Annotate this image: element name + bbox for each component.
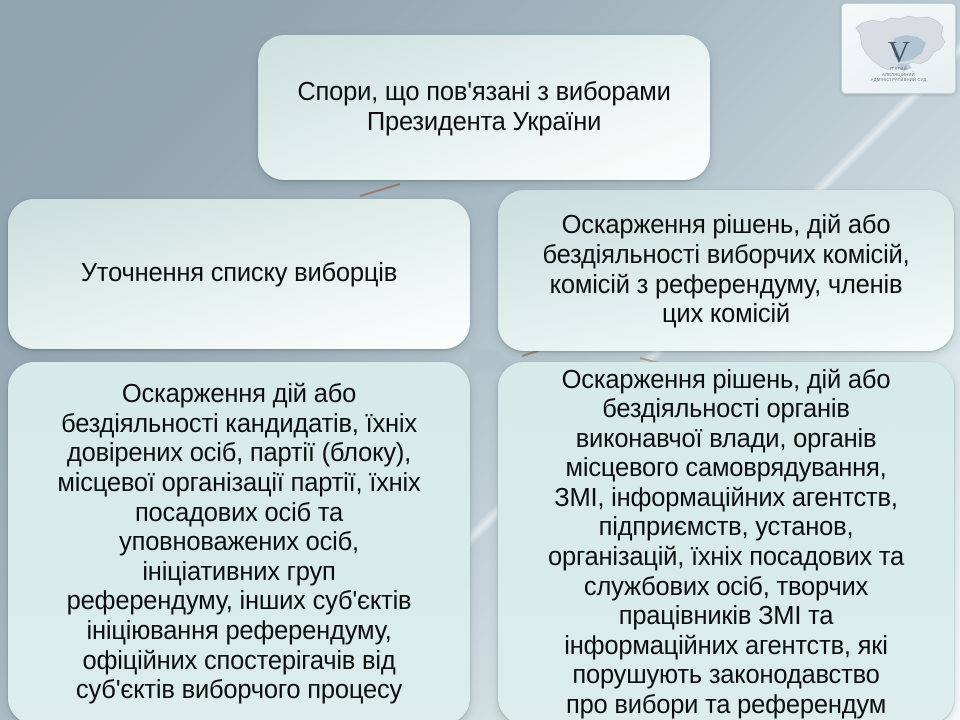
commissions-node-label: Оскарження рішень, дій або бездіяльності…	[498, 211, 954, 329]
slide-canvas: Спори, що пов'язані з виборами Президент…	[0, 0, 960, 720]
commissions-node[interactable]: Оскарження рішень, дій або бездіяльності…	[498, 190, 954, 351]
root-node[interactable]: Спори, що пов'язані з виборами Президент…	[258, 35, 710, 180]
svg-text:V: V	[888, 34, 911, 69]
voter-list-node-label: Уточнення списку виборців	[8, 259, 470, 289]
connector-line-root-left	[360, 184, 400, 196]
candidates-node[interactable]: Оскарження дій або бездіяльності кандида…	[8, 362, 470, 720]
root-node-label: Спори, що пов'язані з виборами Президент…	[258, 78, 710, 137]
authorities-node[interactable]: Оскарження рішень, дій або бездіяльності…	[498, 362, 954, 720]
court-emblem[interactable]: V П'ЯТИЙ АПЕЛЯЦІЙНИЙ АДМІНІСТРАТИВНИЙ СУ…	[841, 3, 956, 94]
authorities-node-label: Оскарження рішень, дій або бездіяльності…	[498, 366, 954, 720]
court-emblem-caption: П'ЯТИЙ АПЕЛЯЦІЙНИЙ АДМІНІСТРАТИВНИЙ СУД	[842, 66, 955, 83]
candidates-node-label: Оскарження дій або бездіяльності кандида…	[8, 380, 470, 705]
voter-list-node[interactable]: Уточнення списку виборців	[8, 199, 470, 349]
